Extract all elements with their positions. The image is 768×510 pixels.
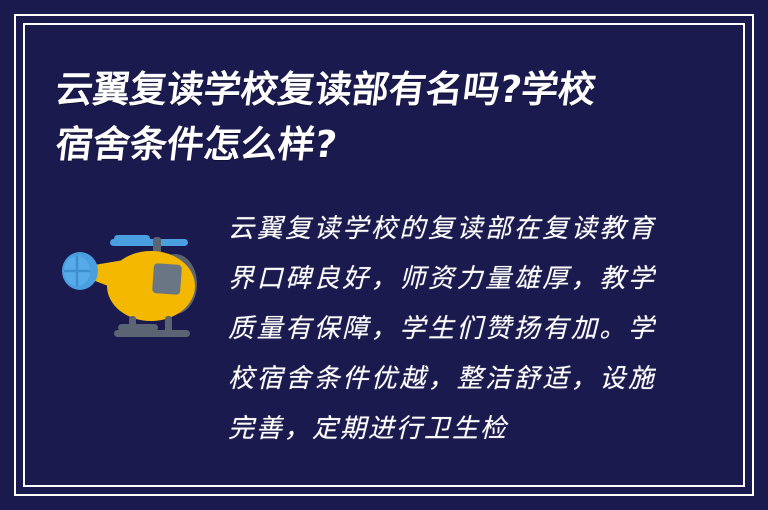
page-title: 云翼复读学校复读部有名吗?学校 宿舍条件怎么样? — [56, 62, 656, 172]
body-paragraph: 云翼复读学校的复读部在复读教育界口碑良好，师资力量雄厚，教学质量有保障，学生们赞… — [228, 204, 656, 476]
poster-canvas: 云翼复读学校复读部有名吗?学校 宿舍条件怎么样? — [0, 0, 768, 510]
title-line-2: 宿舍条件怎么样? — [53, 117, 660, 172]
body-paragraph-text: 云翼复读学校的复读部在复读教育界口碑良好，师资力量雄厚，教学质量有保障，学生们赞… — [228, 204, 656, 454]
content-area: 云翼复读学校的复读部在复读教育界口碑良好，师资力量雄厚，教学质量有保障，学生们赞… — [0, 196, 768, 496]
title-line-1: 云翼复读学校复读部有名吗?学校 — [53, 62, 660, 117]
helicopter-icon — [52, 220, 202, 340]
